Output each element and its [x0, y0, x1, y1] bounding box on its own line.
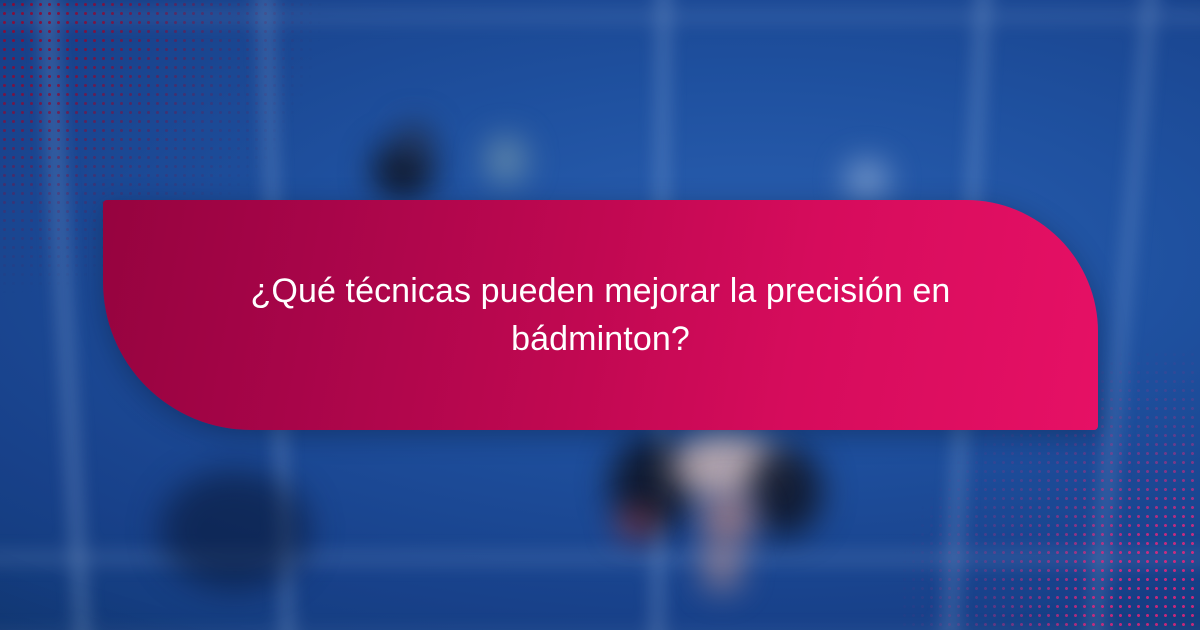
- court-shadow-blur: [160, 470, 310, 590]
- question-text: ¿Qué técnicas pueden mejorar la precisió…: [166, 267, 1036, 364]
- social-share-card: ¿Qué técnicas pueden mejorar la precisió…: [0, 0, 1200, 630]
- player-silhouette-blur: [748, 446, 822, 536]
- shuttlecock-blur: [846, 160, 888, 200]
- player-silhouette-blur: [700, 494, 756, 546]
- question-banner: ¿Qué técnicas pueden mejorar la precisió…: [103, 200, 1098, 430]
- player-silhouette-blur: [702, 540, 742, 592]
- player-silhouette-blur: [616, 510, 656, 538]
- player-silhouette-blur: [398, 122, 432, 162]
- player-silhouette-blur: [486, 136, 526, 184]
